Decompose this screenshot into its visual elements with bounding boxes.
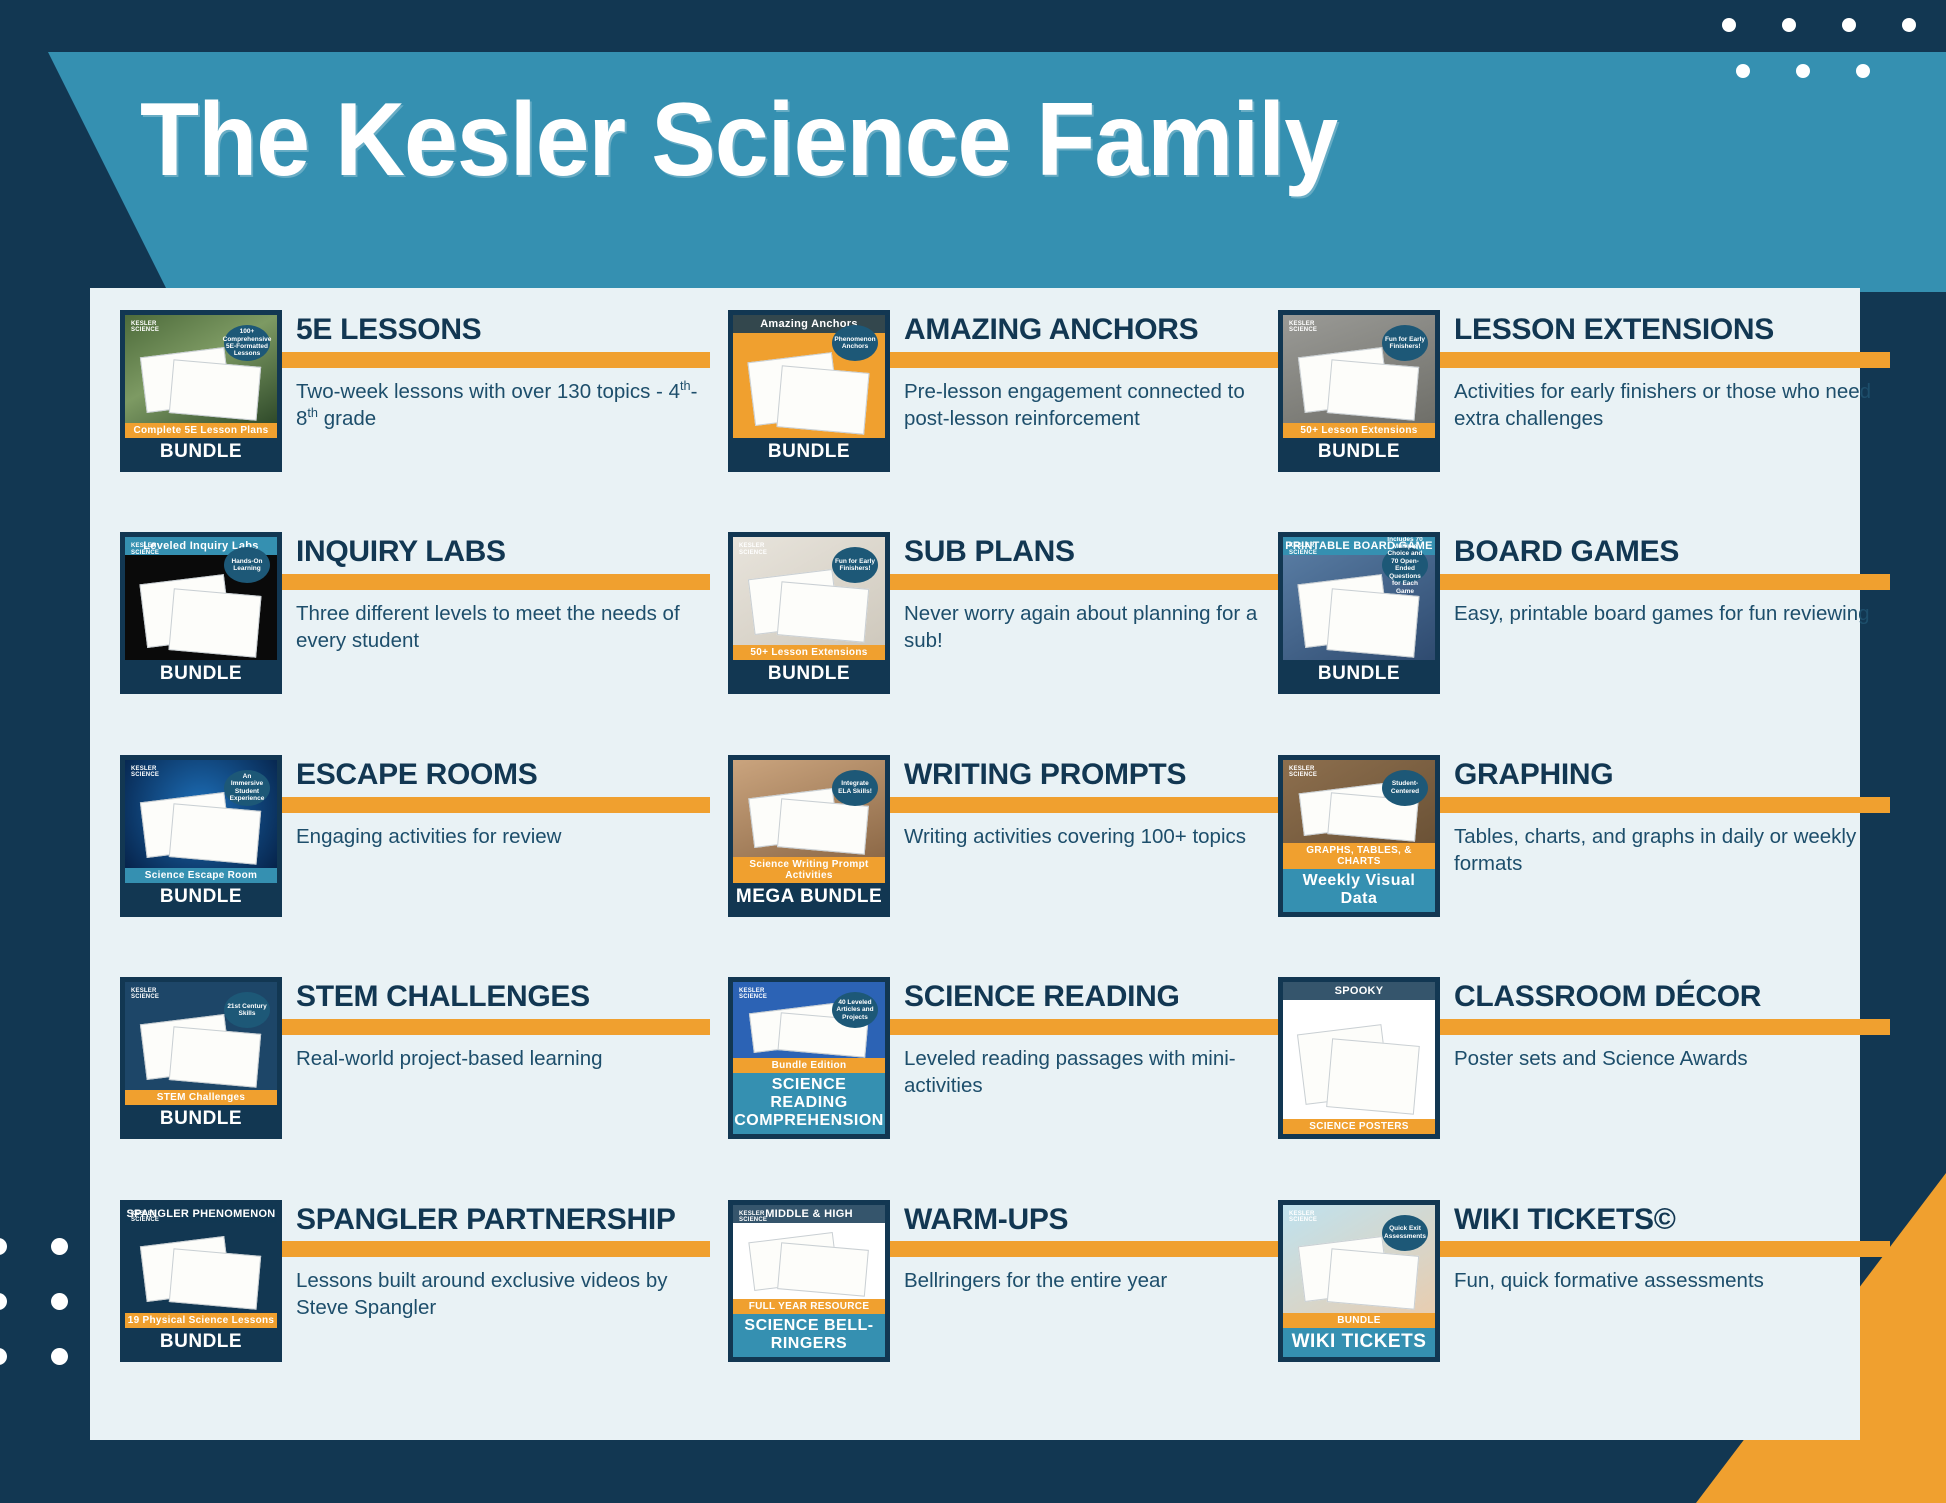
thumbnail-caption: BUNDLE [1283,660,1435,689]
product-thumbnail[interactable]: KESLERSCIENCEQuick Exit AssessmentsBUNDL… [1278,1200,1440,1362]
product-heading: Spangler Partnership [296,1204,710,1236]
product-thumbnail[interactable]: KESLERSCIENCESPANGLER PHENOMENON19 Physi… [120,1200,282,1362]
product-item[interactable]: KESLERSCIENCE100+ Comprehensive 5E-Forma… [120,310,710,532]
products-grid: KESLERSCIENCE100+ Comprehensive 5E-Forma… [90,288,1860,1440]
product-text: Inquiry LabsThree different levels to me… [296,532,710,654]
thumbnail-strip-label: 19 Physical Science Lessons [125,1313,277,1328]
kesler-science-logo-icon: KESLERSCIENCE [739,1211,767,1224]
orange-rule [282,352,710,368]
product-text: Lesson ExtensionsActivities for early fi… [1454,310,1890,432]
thumbnail-strip-label: Science Escape Room [125,868,277,883]
product-item[interactable]: SPOOKYSCIENCE POSTERSClassroom DécorPost… [1278,977,1890,1199]
product-text: Warm-UpsBellringers for the entire year [904,1200,1278,1295]
product-item[interactable]: KESLERSCIENCEPRINTABLE BOARD GAMEInclude… [1278,532,1890,754]
product-heading: Writing Prompts [904,759,1278,791]
thumbnail-artwork: KESLERSCIENCEAn Immersive Student Experi… [125,760,277,868]
product-text: Science ReadingLeveled reading passages … [904,977,1278,1099]
product-thumbnail[interactable]: KESLERSCIENCE40 Leveled Articles and Pro… [728,977,890,1139]
thumbnail-badge: 40 Leveled Articles and Projects [832,992,878,1028]
product-text: Board GamesEasy, printable board games f… [1454,532,1890,627]
thumbnail-artwork: KESLERSCIENCE21st Century Skills [125,982,277,1090]
kesler-science-logo-icon: KESLERSCIENCE [739,988,767,1001]
orange-rule [1440,1019,1890,1035]
product-thumbnail[interactable]: KESLERSCIENCE21st Century SkillsSTEM Cha… [120,977,282,1139]
decorative-dots-top-right [1722,18,1916,110]
orange-rule [282,574,710,590]
product-description: Bellringers for the entire year [904,1267,1278,1294]
product-heading: Board Games [1454,536,1890,568]
product-item[interactable]: KESLERSCIENCE21st Century SkillsSTEM Cha… [120,977,710,1199]
product-text: GraphingTables, charts, and graphs in da… [1454,755,1890,877]
thumbnail-strip-label: BUNDLE [1283,1313,1435,1328]
product-text: Amazing AnchorsPre-lesson engagement con… [904,310,1278,432]
thumbnail-caption: BUNDLE [733,660,885,689]
product-heading: Warm-Ups [904,1204,1278,1236]
thumbnail-badge: Phenomenon Anchors [832,325,878,361]
thumbnail-strip-label: Science Writing Prompt Activities [733,857,885,883]
orange-rule [1440,574,1890,590]
thumbnail-caption: BUNDLE [125,1105,277,1134]
thumbnail-caption: BUNDLE [733,438,885,467]
thumbnail-artwork: Amazing AnchorsPhenomenon Anchors [733,315,885,438]
product-item[interactable]: Amazing AnchorsPhenomenon AnchorsBUNDLEA… [710,310,1278,532]
product-thumbnail[interactable]: KESLERSCIENCEPRINTABLE BOARD GAMEInclude… [1278,532,1440,694]
product-heading: Classroom Décor [1454,981,1890,1013]
product-item[interactable]: KESLERSCIENCEQuick Exit AssessmentsBUNDL… [1278,1200,1890,1422]
product-text: 5E LessonsTwo-week lessons with over 130… [296,310,710,432]
product-heading: Lesson Extensions [1454,314,1890,346]
product-description: Never worry again about planning for a s… [904,600,1278,654]
thumbnail-sheets-icon [1283,982,1435,1119]
product-thumbnail[interactable]: KESLERSCIENCEStudent-CenteredGRAPHS, TAB… [1278,755,1440,917]
product-description: Activities for early finishers or those … [1454,378,1890,432]
thumbnail-caption: Weekly Visual Data [1283,869,1435,912]
orange-rule [890,1241,1278,1257]
product-text: STEM ChallengesReal-world project-based … [296,977,710,1072]
thumbnail-badge: Quick Exit Assessments [1382,1215,1428,1251]
product-description: Easy, printable board games for fun revi… [1454,600,1890,627]
thumbnail-badge: Student-Centered [1382,770,1428,806]
product-description: Two-week lessons with over 130 topics - … [296,378,710,432]
product-heading: 5E Lessons [296,314,710,346]
thumbnail-badge: Includes 70 Multiple Choice and 70 Open-… [1382,547,1428,583]
thumbnail-caption: BUNDLE [125,1328,277,1357]
product-description: Leveled reading passages with mini-activ… [904,1045,1278,1099]
products-panel: KESLERSCIENCE100+ Comprehensive 5E-Forma… [90,288,1860,1440]
product-text: Wiki Tickets©Fun, quick formative assess… [1454,1200,1890,1295]
product-heading: Graphing [1454,759,1890,791]
thumbnail-artwork: KESLERSCIENCEMIDDLE & HIGH [733,1205,885,1299]
thumbnail-artwork: KESLERSCIENCEQuick Exit Assessments [1283,1205,1435,1313]
product-text: Writing PromptsWriting activities coveri… [904,755,1278,850]
thumbnail-top-label: SPOOKY [1283,982,1435,1000]
product-thumbnail[interactable]: KESLERSCIENCELeveled Inquiry LabsHands-O… [120,532,282,694]
thumbnail-strip-label: Bundle Edition [733,1058,885,1073]
orange-rule [1440,797,1890,813]
thumbnail-caption: BUNDLE [125,660,277,689]
product-description: Real-world project-based learning [296,1045,710,1072]
product-thumbnail[interactable]: KESLERSCIENCEFun for Early Finishers!50+… [728,532,890,694]
product-item[interactable]: KESLERSCIENCESPANGLER PHENOMENON19 Physi… [120,1200,710,1422]
thumbnail-strip-label: GRAPHS, TABLES, & CHARTS [1283,843,1435,869]
thumbnail-strip-label: 50+ Lesson Extensions [733,645,885,660]
thumbnail-caption: BUNDLE [125,883,277,912]
thumbnail-artwork: KESLERSCIENCEStudent-Centered [1283,760,1435,843]
orange-rule [890,574,1278,590]
product-item[interactable]: KESLERSCIENCEFun for Early Finishers!50+… [710,532,1278,754]
product-thumbnail[interactable]: KESLERSCIENCEFun for Early Finishers!50+… [1278,310,1440,472]
product-heading: Amazing Anchors [904,314,1278,346]
product-description: Three different levels to meet the needs… [296,600,710,654]
thumbnail-strip-label: Complete 5E Lesson Plans [125,423,277,438]
thumbnail-strip-label: STEM Challenges [125,1090,277,1105]
thumbnail-artwork: KESLERSCIENCESPANGLER PHENOMENON [125,1205,277,1313]
orange-rule [282,1241,710,1257]
orange-rule [1440,1241,1890,1257]
product-thumbnail[interactable]: KESLERSCIENCEMIDDLE & HIGHFULL YEAR RESO… [728,1200,890,1362]
thumbnail-caption: SCIENCE BELL-RINGERS [733,1314,885,1357]
product-item[interactable]: Integrate ELA Skills!Science Writing Pro… [710,755,1278,977]
thumbnail-artwork: KESLERSCIENCE40 Leveled Articles and Pro… [733,982,885,1058]
product-description: Writing activities covering 100+ topics [904,823,1278,850]
product-item[interactable]: KESLERSCIENCEAn Immersive Student Experi… [120,755,710,977]
orange-rule [282,1019,710,1035]
product-text: Classroom DécorPoster sets and Science A… [1454,977,1890,1072]
product-description: Fun, quick formative assessments [1454,1267,1890,1294]
kesler-science-logo-icon: KESLERSCIENCE [1289,543,1317,556]
product-heading: Inquiry Labs [296,536,710,568]
thumbnail-badge: Fun for Early Finishers! [1382,325,1428,361]
product-description: Tables, charts, and graphs in daily or w… [1454,823,1890,877]
thumbnail-artwork: Integrate ELA Skills! [733,760,885,857]
product-item[interactable]: KESLERSCIENCEStudent-CenteredGRAPHS, TAB… [1278,755,1890,977]
poster-root: The Kesler Science Family KESLERSCIENCE1… [0,0,1946,1503]
thumbnail-artwork: SPOOKY [1283,982,1435,1119]
kesler-science-logo-icon: KESLERSCIENCE [1289,321,1317,334]
product-item[interactable]: KESLERSCIENCELeveled Inquiry LabsHands-O… [120,532,710,754]
product-description: Lessons built around exclusive videos by… [296,1267,710,1321]
kesler-science-logo-icon: KESLERSCIENCE [131,1211,159,1224]
product-item[interactable]: KESLERSCIENCEFun for Early Finishers!50+… [1278,310,1890,532]
product-thumbnail[interactable]: KESLERSCIENCE100+ Comprehensive 5E-Forma… [120,310,282,472]
product-thumbnail[interactable]: SPOOKYSCIENCE POSTERS [1278,977,1440,1139]
product-heading: Wiki Tickets© [1454,1204,1890,1236]
product-description: Pre-lesson engagement connected to post-… [904,378,1278,432]
kesler-science-logo-icon: KESLERSCIENCE [131,766,159,779]
product-heading: Science Reading [904,981,1278,1013]
product-thumbnail[interactable]: Integrate ELA Skills!Science Writing Pro… [728,755,890,917]
product-item[interactable]: KESLERSCIENCEMIDDLE & HIGHFULL YEAR RESO… [710,1200,1278,1422]
thumbnail-caption: MEGA BUNDLE [733,883,885,912]
product-description: Poster sets and Science Awards [1454,1045,1890,1072]
thumbnail-caption: WIKI TICKETS [1283,1328,1435,1357]
product-text: Spangler PartnershipLessons built around… [296,1200,710,1322]
thumbnail-strip-label: FULL YEAR RESOURCE [733,1299,885,1314]
product-text: Escape RoomsEngaging activities for revi… [296,755,710,850]
thumbnail-badge: 100+ Comprehensive 5E-Formatted Lessons [224,325,270,361]
product-heading: Sub Plans [904,536,1278,568]
product-thumbnail[interactable]: Amazing AnchorsPhenomenon AnchorsBUNDLE [728,310,890,472]
orange-rule [890,352,1278,368]
thumbnail-caption: SCIENCE READING COMPREHENSION [733,1073,885,1134]
thumbnail-strip-label: 50+ Lesson Extensions [1283,423,1435,438]
kesler-science-logo-icon: KESLERSCIENCE [131,321,159,334]
orange-rule [1440,352,1890,368]
kesler-science-logo-icon: KESLERSCIENCE [1289,1211,1317,1224]
thumbnail-artwork: KESLERSCIENCELeveled Inquiry LabsHands-O… [125,537,277,660]
thumbnail-artwork: KESLERSCIENCEPRINTABLE BOARD GAMEInclude… [1283,537,1435,660]
thumbnail-badge: 21st Century Skills [224,992,270,1028]
thumbnail-caption: BUNDLE [1283,438,1435,467]
page-title: The Kesler Science Family [140,86,1337,195]
product-description: Engaging activities for review [296,823,710,850]
orange-rule [890,1019,1278,1035]
orange-rule [282,797,710,813]
thumbnail-artwork: KESLERSCIENCE100+ Comprehensive 5E-Forma… [125,315,277,423]
product-heading: Escape Rooms [296,759,710,791]
thumbnail-strip-label: SCIENCE POSTERS [1283,1119,1435,1134]
kesler-science-logo-icon: KESLERSCIENCE [1289,766,1317,779]
thumbnail-badge: Integrate ELA Skills! [832,770,878,806]
orange-rule [890,797,1278,813]
thumbnail-caption: BUNDLE [125,438,277,467]
thumbnail-artwork: KESLERSCIENCEFun for Early Finishers! [1283,315,1435,423]
product-item[interactable]: KESLERSCIENCE40 Leveled Articles and Pro… [710,977,1278,1199]
product-thumbnail[interactable]: KESLERSCIENCEAn Immersive Student Experi… [120,755,282,917]
thumbnail-artwork: KESLERSCIENCEFun for Early Finishers! [733,537,885,645]
thumbnail-badge: An Immersive Student Experience [224,770,270,806]
product-heading: STEM Challenges [296,981,710,1013]
kesler-science-logo-icon: KESLERSCIENCE [739,543,767,556]
product-text: Sub PlansNever worry again about plannin… [904,532,1278,654]
kesler-science-logo-icon: KESLERSCIENCE [131,543,159,556]
kesler-science-logo-icon: KESLERSCIENCE [131,988,159,1001]
